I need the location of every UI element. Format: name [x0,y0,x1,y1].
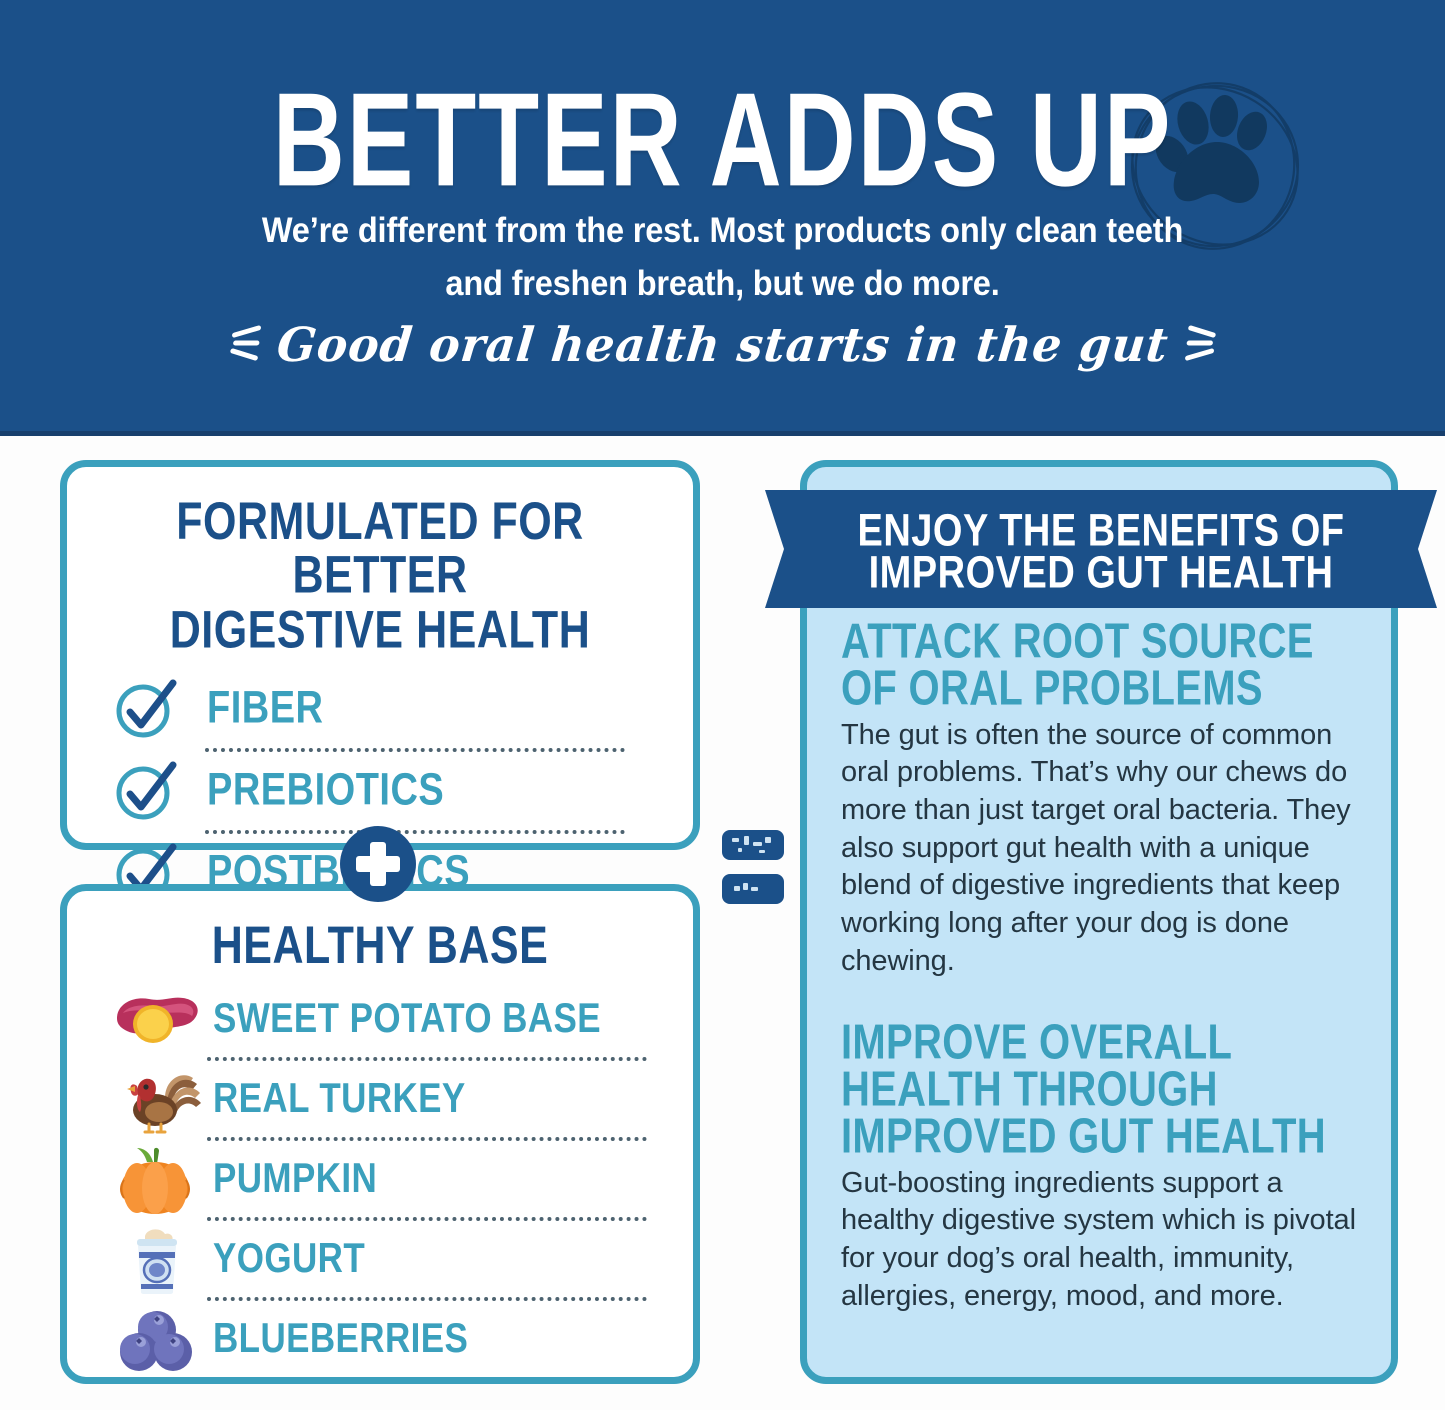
dotted-separator [207,1217,647,1221]
page-title: BETTER ADDS UP [273,74,1173,207]
list-item-label: PUMPKIN [213,1155,377,1203]
equals-icon [722,830,784,904]
dotted-separator [207,1137,647,1141]
list-item: SWEET POTATO BASE [107,981,663,1057]
list-item: PUMPKIN [107,1141,663,1217]
benefit-title: IMPROVE OVERALL HEALTH THROUGH IMPROVED … [841,1018,1357,1158]
plus-icon [340,826,416,902]
header-title-row: BETTER ADDS UP [0,74,1445,178]
header-subtitle-line2: and freshen breath, but we do more. [51,257,1395,310]
equals-bar-top [722,830,784,860]
benefit-title: ATTACK ROOT SOURCE OF ORAL PROBLEMS [841,617,1357,711]
equals-bar-bottom [722,874,784,904]
list-item-label: BLUEBERRIES [213,1315,468,1363]
sweet-potato-icon [107,982,205,1056]
dotted-separator [207,1057,647,1061]
list-item: FIBER [113,674,657,744]
infographic-root: BETTER ADDS UP We’re different from the … [0,0,1445,1410]
list-item: REAL TURKEY [107,1061,663,1137]
benefit-body: Gut-boosting ingredients support a healt… [841,1165,1357,1316]
list-item-label: PREBIOTICS [207,765,444,817]
header-band: BETTER ADDS UP We’re different from the … [0,0,1445,436]
turkey-icon [107,1062,205,1136]
tagline-left-flourish [224,320,263,378]
healthy-base-card: HEALTHY BASE SWEET POTATO BASE [60,884,700,1384]
dotted-separator [205,830,625,834]
tagline-text: Good oral health starts in the gut [274,318,1171,373]
list-item-label: YOGURT [213,1235,365,1283]
header-script-tagline: Good oral health starts in the gut [19,318,1427,378]
blueberries-icon [107,1302,205,1376]
ribbon-text: ENJOY THE BENEFITS OF IMPROVED GUT HEALT… [765,496,1437,608]
list-item-label: SWEET POTATO BASE [213,995,601,1043]
benefit-title-line3: IMPROVED GUT HEALTH [841,1112,1357,1169]
header-subtitle: We’re different from the rest. Most prod… [51,204,1395,310]
dotted-separator [207,1297,647,1301]
formulated-card-title: FORMULATED FOR BETTER DIGESTIVE HEALTH [91,495,669,657]
pumpkin-icon [107,1142,205,1216]
ribbon-line2: IMPROVED GUT HEALTH [869,548,1334,598]
benefit-block: ATTACK ROOT SOURCE OF ORAL PROBLEMS The … [807,617,1391,980]
benefit-block: IMPROVE OVERALL HEALTH THROUGH IMPROVED … [807,1018,1391,1315]
formulated-card: FORMULATED FOR BETTER DIGESTIVE HEALTH F… [60,460,700,850]
header-subtitle-line1: We’re different from the rest. Most prod… [51,204,1395,257]
list-item: YOGURT [107,1221,663,1297]
yogurt-cup-icon [107,1222,205,1296]
formulated-title-line1: FORMULATED FOR BETTER [91,495,669,603]
formulated-title-line2: DIGESTIVE HEALTH [91,603,669,657]
tagline-right-flourish [1182,320,1221,378]
section-gap [807,980,1391,1018]
list-item-label: REAL TURKEY [213,1075,466,1123]
list-item: PREBIOTICS [113,756,657,826]
benefit-body: The gut is often the source of common or… [841,717,1357,981]
check-circle-icon [113,677,183,741]
list-item-label: FIBER [207,683,324,735]
check-circle-icon [113,759,183,823]
healthy-base-card-title: HEALTHY BASE [91,919,669,973]
ingredient-list: SWEET POTATO BASE [67,981,693,1377]
dotted-separator [205,748,625,752]
list-item: BLUEBERRIES [107,1301,663,1377]
benefit-title-line2: OF ORAL PROBLEMS [841,664,1357,721]
